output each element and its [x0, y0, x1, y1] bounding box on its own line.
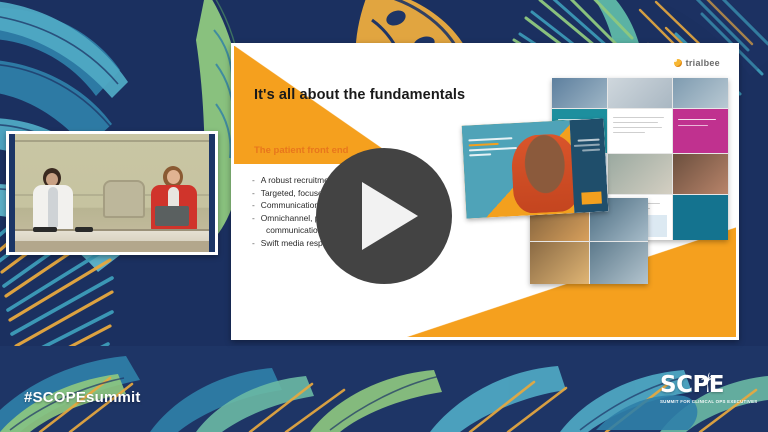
speaker-video-inner	[9, 134, 215, 252]
presentation-slide: trialbee	[231, 43, 739, 340]
trialbee-wordmark: trialbee	[686, 58, 720, 68]
speaker-video-thumbnail[interactable]	[6, 131, 218, 255]
bullet-dash-icon: -	[252, 174, 255, 187]
trialbee-brand: trialbee	[674, 58, 720, 68]
slide-subtitle: The patient front end	[254, 145, 348, 156]
bullet-dash-icon: -	[252, 212, 255, 225]
video-player-screen: trialbee	[0, 0, 768, 432]
speaker-left	[29, 168, 79, 230]
palm-tree-icon	[700, 372, 716, 394]
bee-logo-icon	[674, 59, 682, 67]
bullet-dash-icon: -	[252, 187, 255, 200]
event-hashtag: #SCOPEsummit	[24, 389, 141, 406]
slide-title: It's all about the fundamentals	[254, 87, 465, 103]
scope-tagline: SUMMIT FOR CLINICAL OPS EXECUTIVES	[660, 399, 756, 404]
scope-logo: SCPE SUMMIT FOR CLINICAL OPS EXECUTIVES	[660, 374, 756, 418]
conference-room-scene	[15, 134, 209, 252]
chair	[103, 180, 145, 218]
bullet-dash-icon: -	[252, 237, 255, 250]
bullet-dash-icon: -	[252, 199, 255, 212]
scope-wordmark: SCPE	[660, 374, 756, 397]
play-triangle-icon	[362, 182, 418, 250]
play-button[interactable]	[316, 148, 452, 284]
laptop	[155, 206, 189, 226]
